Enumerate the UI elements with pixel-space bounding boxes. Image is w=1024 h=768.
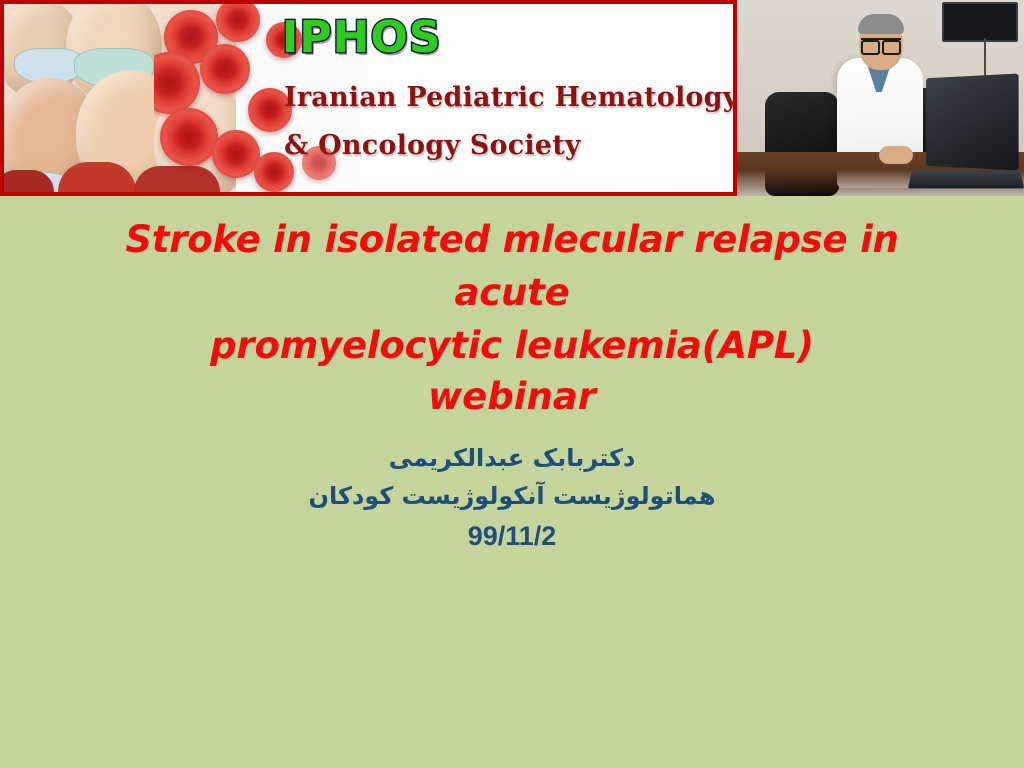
presenter-block: دکتربابک عبدالکریمی هماتولوژیست آنکولوژی… xyxy=(62,439,962,557)
iphos-acronym-logo: IPHOS xyxy=(282,12,442,63)
eyeglasses-icon xyxy=(861,38,901,51)
doctor-hair xyxy=(858,14,904,34)
laptop-keyboard xyxy=(908,170,1024,188)
slide-body: Stroke in isolated mlecular relapse in a… xyxy=(0,196,1024,768)
blood-cell-icon xyxy=(200,44,250,94)
iphos-banner: IPHOS Iranian Pediatric Hematology & Onc… xyxy=(0,0,737,196)
page-title: Stroke in isolated mlecular relapse in a… xyxy=(62,213,962,372)
presentation-slide: IPHOS Iranian Pediatric Hematology & Onc… xyxy=(0,0,1024,768)
doctor-at-desk-photo xyxy=(737,0,1024,196)
subtitle-webinar: webinar xyxy=(62,373,962,421)
title-line-2: promyelocytic leukemia(APL) xyxy=(62,319,962,372)
blood-cell-icon xyxy=(216,4,260,42)
blood-cell-icon xyxy=(212,130,260,178)
blood-cell-icon xyxy=(160,108,218,166)
laptop-screen xyxy=(926,74,1019,171)
doctor-hands xyxy=(879,146,913,164)
wall-monitor-icon xyxy=(942,2,1018,42)
society-name-line-2: & Oncology Society xyxy=(284,130,581,161)
presenter-name: دکتربابک عبدالکریمی xyxy=(62,439,962,477)
presentation-date: 99/11/2 xyxy=(62,515,962,557)
presenter-role: هماتولوژیست آنکولوژیست کودکان xyxy=(62,477,962,515)
slide-header-images: IPHOS Iranian Pediatric Hematology & Onc… xyxy=(0,0,1024,196)
banner-background: IPHOS Iranian Pediatric Hematology & Onc… xyxy=(4,4,733,192)
society-name-line-1: Iranian Pediatric Hematology xyxy=(284,82,733,113)
title-line-1: Stroke in isolated mlecular relapse in a… xyxy=(62,213,962,319)
